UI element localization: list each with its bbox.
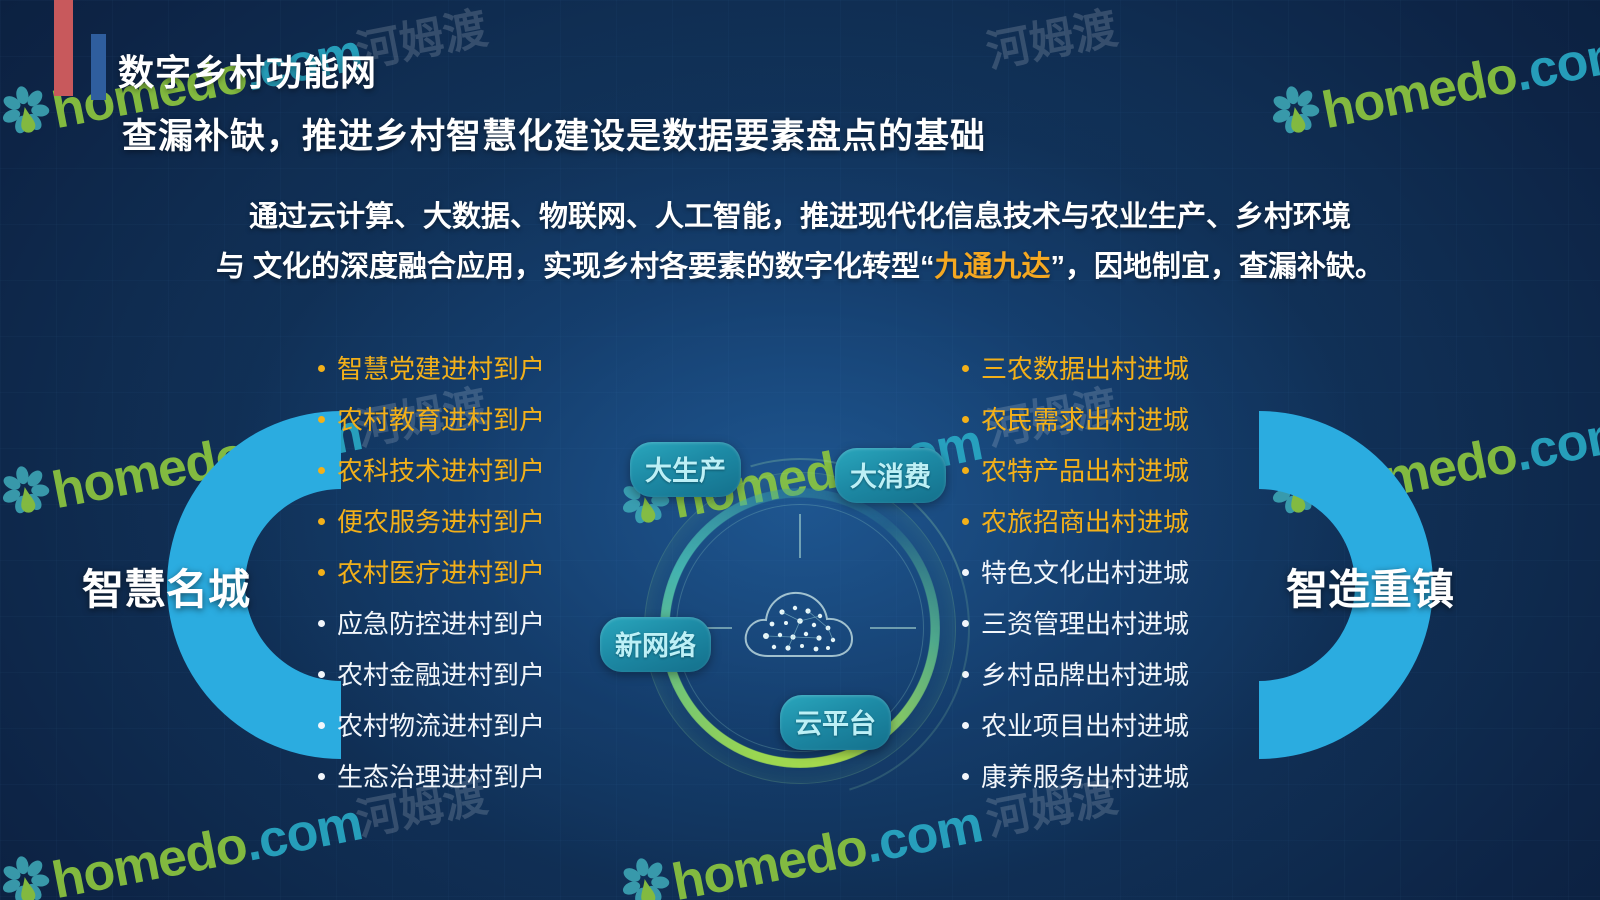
- bullet-dot-icon: [318, 467, 325, 474]
- pill-yun-ping-tai[interactable]: 云平台: [780, 695, 891, 750]
- watermark-homedo: homedo.com: [614, 790, 988, 900]
- paragraph-line-2-pre: 与 文化的深度融合应用，实现乡村各要素的数字化转型“: [216, 251, 935, 283]
- watermark-brand-cn: 河姆渡: [980, 0, 1122, 80]
- bullet-dot-icon: [318, 416, 325, 423]
- pill-xin-wang-luo[interactable]: 新网络: [600, 617, 711, 672]
- left-panel-label: 智慧名城: [82, 556, 250, 617]
- tick-right: [870, 627, 916, 629]
- paragraph-line-2: 与 文化的深度融合应用，实现乡村各要素的数字化转型“九通九达”，因地制宜，查漏补…: [90, 242, 1510, 292]
- list-item-label: 农业项目出村进城: [981, 709, 1189, 743]
- list-item-label: 便农服务进村到户: [337, 505, 545, 539]
- homedo-flower-icon: [0, 78, 57, 141]
- list-item: 农村医疗进村到户: [318, 556, 608, 607]
- watermark-homedo: homedo.com: [1264, 18, 1600, 154]
- list-item-label: 应急防控进村到户: [337, 607, 545, 641]
- list-item-label: 农村医疗进村到户: [337, 556, 545, 590]
- list-item-label: 农村教育进村到户: [337, 403, 545, 437]
- list-item: 农村物流进村到户: [318, 709, 608, 760]
- description-paragraph: 通过云计算、大数据、物联网、人工智能，推进现代化信息技术与农业生产、乡村环境 与…: [90, 192, 1510, 292]
- watermark-brand-text: homedo: [1317, 45, 1521, 139]
- page-title: 数字乡村功能网: [118, 44, 377, 96]
- list-item-label: 农特产品出村进城: [981, 454, 1189, 488]
- homedo-logo-icon: [0, 458, 59, 534]
- header-accent-bar-red: [54, 0, 73, 96]
- list-item: 农村教育进村到户: [318, 403, 608, 454]
- homedo-flower-icon: [0, 848, 57, 900]
- list-item-label: 三资管理出村进城: [981, 607, 1189, 641]
- list-item: 智慧党建进村到户: [318, 352, 608, 403]
- list-item-label: 农科技术进村到户: [337, 454, 545, 488]
- list-item-label: 农村物流进村到户: [337, 709, 545, 743]
- pill-da-sheng-chan[interactable]: 大生产: [630, 442, 741, 497]
- homedo-logo-icon: [1264, 78, 1330, 154]
- center-cloud-graphic: 大生产 大消费 新网络 云平台: [600, 420, 1000, 780]
- list-item-label: 农旅招商出村进城: [981, 505, 1189, 539]
- watermark-domain-text: .com: [1510, 23, 1600, 102]
- list-item: 特色文化出村进城: [962, 556, 1257, 607]
- list-item: 农科技术进村到户: [318, 454, 608, 505]
- list-item: 便农服务进村到户: [318, 505, 608, 556]
- watermark-homedo: homedo.com: [0, 788, 367, 900]
- list-item-label: 特色文化出村进城: [981, 556, 1189, 590]
- list-item: 应急防控进村到户: [318, 607, 608, 658]
- cloud-network-icon: [738, 578, 862, 674]
- page-subtitle: 查漏补缺，推进乡村智慧化建设是数据要素盘点的基础: [122, 108, 986, 159]
- list-item: 三资管理出村进城: [962, 607, 1257, 658]
- list-item-label: 三农数据出村进城: [981, 352, 1189, 386]
- list-item: 三农数据出村进城: [962, 352, 1257, 403]
- watermark-brand-text: homedo: [47, 815, 251, 900]
- pill-da-xiao-fei[interactable]: 大消费: [835, 448, 946, 503]
- list-item: 乡村品牌出村进城: [962, 658, 1257, 709]
- list-item: 康养服务出村进城: [962, 760, 1257, 811]
- slide-canvas: homedo.comhomedo.comhomedo.comhomedo.com…: [0, 0, 1600, 900]
- list-item: 农村金融进村到户: [318, 658, 608, 709]
- left-bullet-list: 智慧党建进村到户农村教育进村到户农科技术进村到户便农服务进村到户农村医疗进村到户…: [318, 352, 608, 811]
- homedo-flower-icon: [1264, 78, 1327, 141]
- homedo-logo-icon: [0, 78, 59, 154]
- bullet-dot-icon: [318, 569, 325, 576]
- bullet-dot-icon: [962, 365, 969, 372]
- bullet-dot-icon: [318, 365, 325, 372]
- bullet-dot-icon: [318, 671, 325, 678]
- watermark-domain-text: .com: [1510, 403, 1600, 482]
- list-item-label: 康养服务出村进城: [981, 760, 1189, 794]
- watermark-brand-text: homedo: [667, 817, 871, 900]
- paragraph-line-1: 通过云计算、大数据、物联网、人工智能，推进现代化信息技术与农业生产、乡村环境: [90, 192, 1510, 242]
- homedo-logo-icon: [0, 848, 59, 900]
- list-item-label: 农村金融进村到户: [337, 658, 545, 692]
- tick-top: [799, 514, 801, 558]
- list-item: 农旅招商出村进城: [962, 505, 1257, 556]
- bullet-dot-icon: [318, 518, 325, 525]
- list-item-label: 生态治理进村到户: [337, 760, 545, 794]
- homedo-flower-icon: [0, 458, 57, 521]
- bullet-dot-icon: [318, 620, 325, 627]
- list-item: 农业项目出村进城: [962, 709, 1257, 760]
- bullet-dot-icon: [318, 773, 325, 780]
- header-accent-bar-blue: [91, 34, 106, 100]
- paragraph-line-2-post: ”，因地制宜，查漏补缺。: [1051, 251, 1385, 283]
- paragraph-highlight: 九通九达: [935, 251, 1051, 283]
- homedo-flower-icon: [614, 850, 677, 900]
- right-bullet-list: 三农数据出村进城农民需求出村进城农特产品出村进城农旅招商出村进城特色文化出村进城…: [962, 352, 1257, 811]
- list-item: 农特产品出村进城: [962, 454, 1257, 505]
- list-item: 农民需求出村进城: [962, 403, 1257, 454]
- list-item-label: 乡村品牌出村进城: [981, 658, 1189, 692]
- list-item-label: 农民需求出村进城: [981, 403, 1189, 437]
- right-panel-label: 智造重镇: [1286, 556, 1454, 617]
- list-item-label: 智慧党建进村到户: [337, 352, 545, 386]
- bullet-dot-icon: [318, 722, 325, 729]
- list-item: 生态治理进村到户: [318, 760, 608, 811]
- homedo-logo-icon: [614, 850, 680, 900]
